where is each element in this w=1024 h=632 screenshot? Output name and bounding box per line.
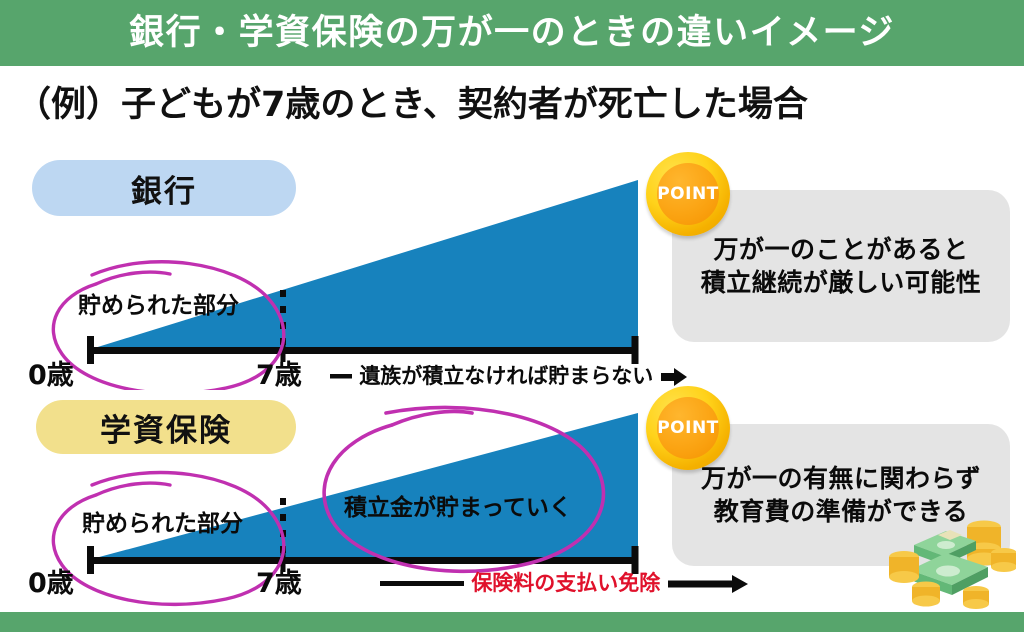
chart-bank [0, 150, 660, 390]
coin-stack-front [912, 582, 940, 607]
point-badge-insurance: POINT [646, 386, 730, 470]
insurance-note-arrow-icon [668, 575, 748, 593]
insurance-axis-label-event: 7歳 [256, 570, 302, 597]
page-title: 銀行・学資保険の万が一のときの違いイメージ [129, 16, 895, 51]
callout-insurance-line-1: 万が一の有無に関わらず [701, 462, 981, 495]
insurance-axis-note-text: 保険料の支払い免除 [471, 571, 660, 595]
header-band: 銀行・学資保険の万が一のときの違いイメージ [0, 0, 1024, 66]
chart-bank-svg [0, 150, 660, 390]
footer-band [0, 612, 1024, 632]
coin-stack-left [889, 551, 919, 583]
coin-stack-far-right [991, 548, 1016, 572]
callout-bank-line-2: 積立継続が厳しい可能性 [701, 266, 982, 299]
bank-note-arrow-icon [661, 368, 687, 386]
money-stack-icon [884, 505, 1016, 615]
bank-axis-note: 遺族が積立なければ貯まらない [330, 366, 687, 387]
coin-stack-front-right [963, 586, 989, 609]
insurance-saved-note: 貯められた部分 [82, 513, 243, 536]
insurance-growth-note: 積立金が貯まっていく [344, 497, 572, 520]
insurance-axis-label-start: 0歳 [28, 570, 74, 597]
bank-saved-note: 貯められた部分 [78, 295, 239, 318]
point-badge-insurance-label: POINT [657, 420, 719, 437]
bank-axis-label-start: 0歳 [28, 362, 74, 389]
insurance-note-line-icon [380, 575, 464, 591]
point-badge-insurance-inner: POINT [657, 397, 719, 459]
subtitle: （例）子どもが7歳のとき、契約者が死亡した場合 [16, 86, 976, 125]
infographic-page: 銀行・学資保険の万が一のときの違いイメージ （例）子どもが7歳のとき、契約者が死… [0, 0, 1024, 632]
callout-bank-line-1: 万が一のことがあると [713, 233, 968, 266]
insurance-axis-note: 保険料の支払い免除 [380, 573, 748, 594]
point-badge-bank-label: POINT [657, 186, 719, 203]
point-badge-bank-inner: POINT [657, 163, 719, 225]
bank-accumulation-wedge [88, 180, 638, 350]
point-badge-bank: POINT [646, 152, 730, 236]
bank-axis-label-event: 7歳 [256, 362, 302, 389]
bank-note-dash-icon [330, 368, 352, 384]
bank-axis-note-text: 遺族が積立なければ貯まらない [359, 364, 653, 388]
